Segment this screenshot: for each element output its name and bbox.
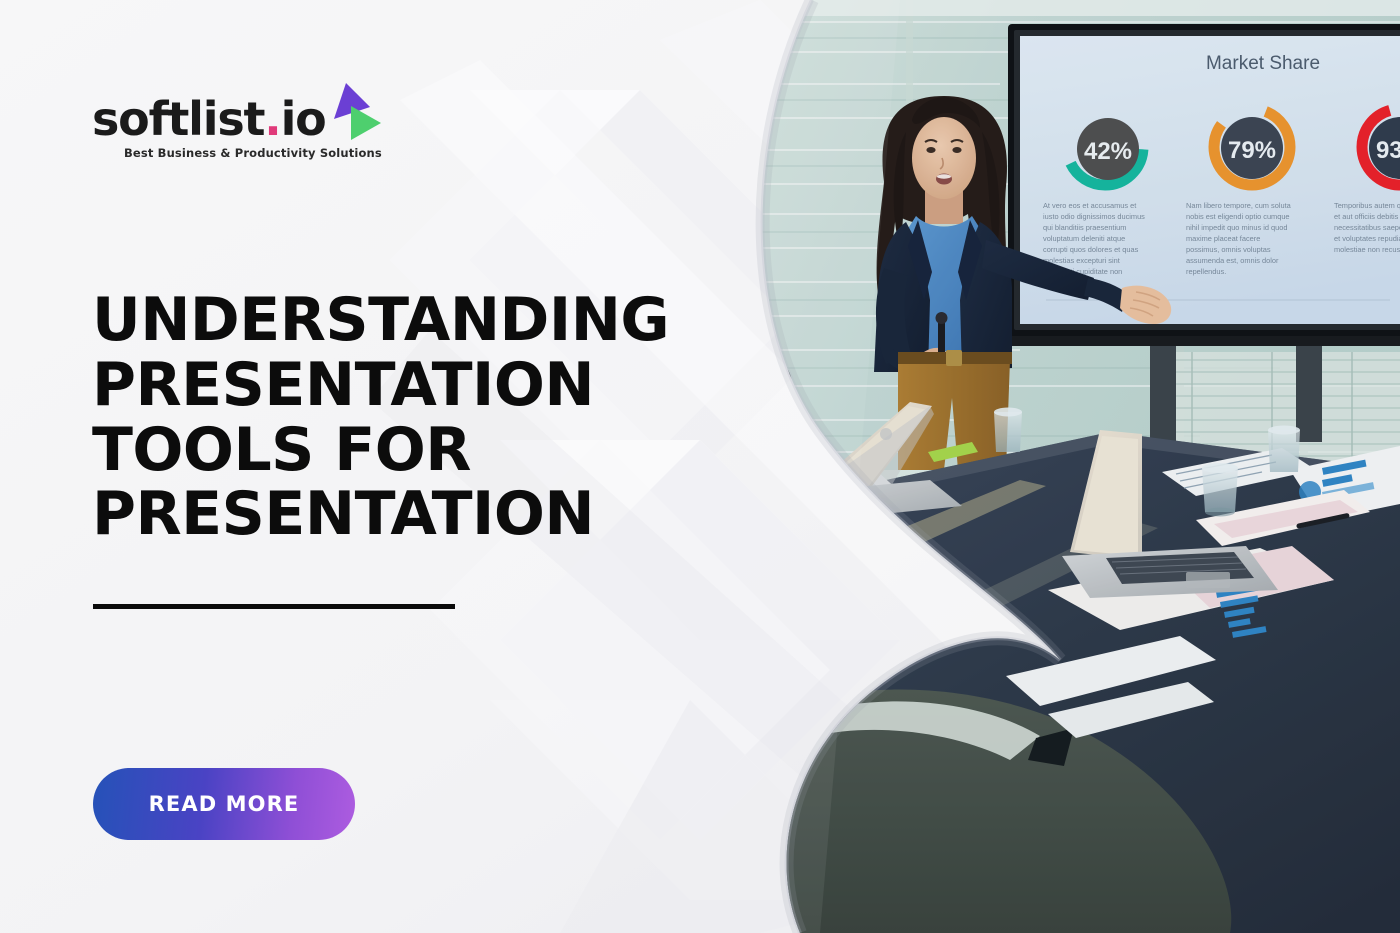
read-more-label: READ MORE bbox=[149, 792, 300, 816]
headline-line-2: PRESENTATION bbox=[92, 353, 662, 418]
headline-line-1: UNDERSTANDING bbox=[92, 288, 662, 353]
logo-word-suffix: io bbox=[281, 92, 326, 146]
site-logo[interactable]: softlist.io Best Business & Productivity… bbox=[92, 96, 422, 160]
read-more-button[interactable]: READ MORE bbox=[93, 768, 355, 840]
logo-play-marks bbox=[329, 90, 389, 142]
headline-line-3: TOOLS FOR bbox=[92, 418, 662, 483]
logo-tagline: Best Business & Productivity Solutions bbox=[124, 146, 422, 160]
logo-word-main: softlist bbox=[92, 92, 264, 146]
title-divider bbox=[93, 604, 455, 609]
logo-wordmark: softlist.io bbox=[92, 96, 326, 142]
logo-dot: . bbox=[264, 92, 280, 146]
headline-line-4: PRESENTATION bbox=[92, 482, 662, 547]
page-title: UNDERSTANDING PRESENTATION TOOLS FOR PRE… bbox=[92, 288, 662, 547]
water-glass-1 bbox=[810, 477, 842, 533]
blog-banner: Market Share 42% 79% bbox=[0, 0, 1400, 933]
green-play-triangle-icon bbox=[351, 106, 381, 140]
